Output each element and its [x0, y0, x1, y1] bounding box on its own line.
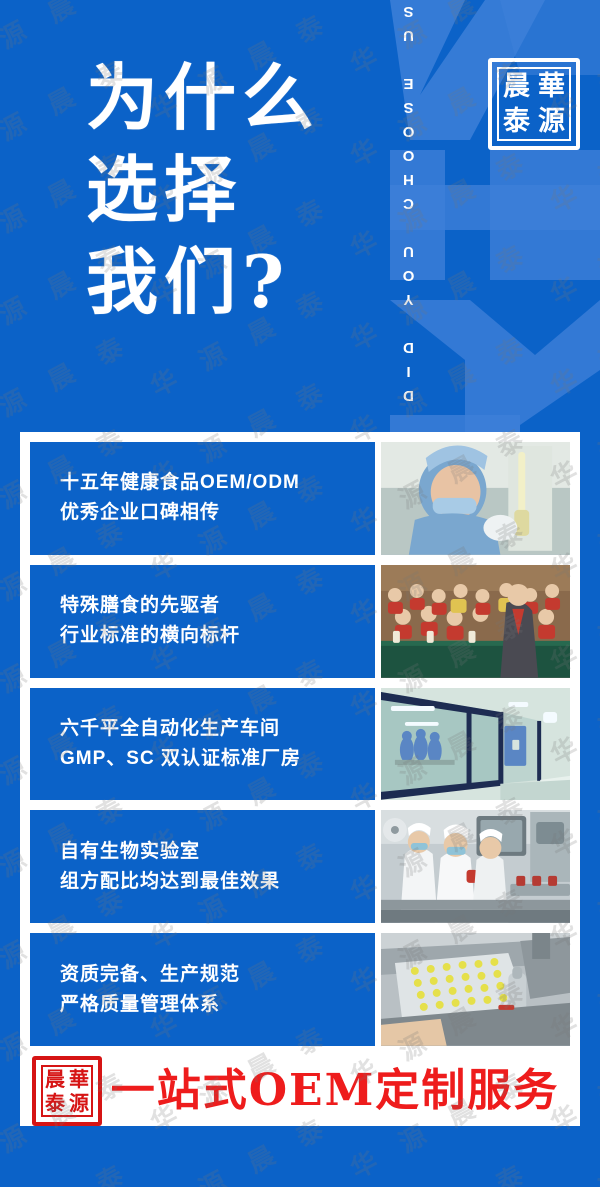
seal-char-4: 泰 [499, 104, 534, 139]
tablet-blister-packing-machine-photo [381, 933, 570, 1046]
feature-card: 六千平全自动化生产车间 GMP、SC 双认证标准厂房 [30, 688, 570, 801]
feature-line-1: 资质完备、生产规范 [60, 960, 375, 990]
feature-card: 资质完备、生产规范 严格质量管理体系 [30, 933, 570, 1046]
footer-seal-char-1: 華 [67, 1067, 91, 1091]
feature-line-1: 十五年健康食品OEM/ODM [60, 468, 375, 498]
footer-seal-char-4: 泰 [43, 1091, 67, 1115]
footer-banner: 華 晨 源 泰 一站式OEM定制服务 [20, 1056, 580, 1126]
feature-line-2: 严格质量管理体系 [60, 990, 375, 1020]
title-line-2: 选择 [86, 144, 320, 236]
footer-seal-inner: 華 晨 源 泰 [41, 1065, 93, 1117]
title-line-1: 为什么 [86, 52, 320, 144]
footer-slogan: 一站式OEM定制服务 [102, 1069, 568, 1113]
feature-card-text: 特殊膳食的先驱者 行业标准的横向标杆 [30, 565, 375, 678]
poster-root: 为什么 选择 我们? DID YOU CHOOSE US 華 晨 源 泰 十五年… [0, 0, 600, 1187]
staff-inspecting-packaging-line-photo [381, 810, 570, 923]
lab-technician-testing-sample-photo [381, 442, 570, 555]
feature-card-text: 资质完备、生产规范 严格质量管理体系 [30, 933, 375, 1046]
feature-card-text: 六千平全自动化生产车间 GMP、SC 双认证标准厂房 [30, 688, 375, 801]
watermark-text: 华 源 晨 泰 [343, 1151, 538, 1187]
seal-char-1: 華 [534, 69, 569, 104]
feature-card: 自有生物实验室 组方配比均达到最佳效果 [30, 810, 570, 923]
feature-card-text: 十五年健康食品OEM/ODM 优秀企业口碑相传 [30, 442, 375, 555]
footer-seal-char-2: 晨 [43, 1067, 67, 1091]
footer-brand-seal-logo: 華 晨 源 泰 [32, 1056, 102, 1126]
seal-char-3: 源 [534, 104, 569, 139]
feature-line-1: 特殊膳食的先驱者 [60, 591, 375, 621]
clean-room-production-corridor-photo [381, 688, 570, 801]
conference-audience-presentation-photo [381, 565, 570, 678]
feature-line-2: 组方配比均达到最佳效果 [60, 867, 375, 897]
feature-card: 特殊膳食的先驱者 行业标准的横向标杆 [30, 565, 570, 678]
feature-line-2: GMP、SC 双认证标准厂房 [60, 744, 375, 774]
watermark-text: 华 源 晨 泰 [0, 1151, 138, 1187]
page-title: 为什么 选择 我们? [86, 52, 320, 328]
feature-card-text: 自有生物实验室 组方配比均达到最佳效果 [30, 810, 375, 923]
feature-line-1: 自有生物实验室 [60, 837, 375, 867]
brand-seal-inner: 華 晨 源 泰 [497, 67, 571, 141]
seal-char-2: 晨 [499, 69, 534, 104]
brand-seal-logo: 華 晨 源 泰 [488, 58, 580, 150]
feature-line-2: 优秀企业口碑相传 [60, 498, 375, 528]
footer-seal-char-3: 源 [67, 1091, 91, 1115]
feature-line-1: 六千平全自动化生产车间 [60, 714, 375, 744]
feature-card: 十五年健康食品OEM/ODM 优秀企业口碑相传 [30, 442, 570, 555]
feature-card-frame: 十五年健康食品OEM/ODM 优秀企业口碑相传 [20, 432, 580, 1056]
vertical-tagline: DID YOU CHOOSE US [400, 28, 417, 404]
feature-line-2: 行业标准的横向标杆 [60, 621, 375, 651]
header-section: 为什么 选择 我们? DID YOU CHOOSE US 華 晨 源 泰 [0, 0, 600, 432]
title-line-3: 我们? [86, 236, 320, 328]
